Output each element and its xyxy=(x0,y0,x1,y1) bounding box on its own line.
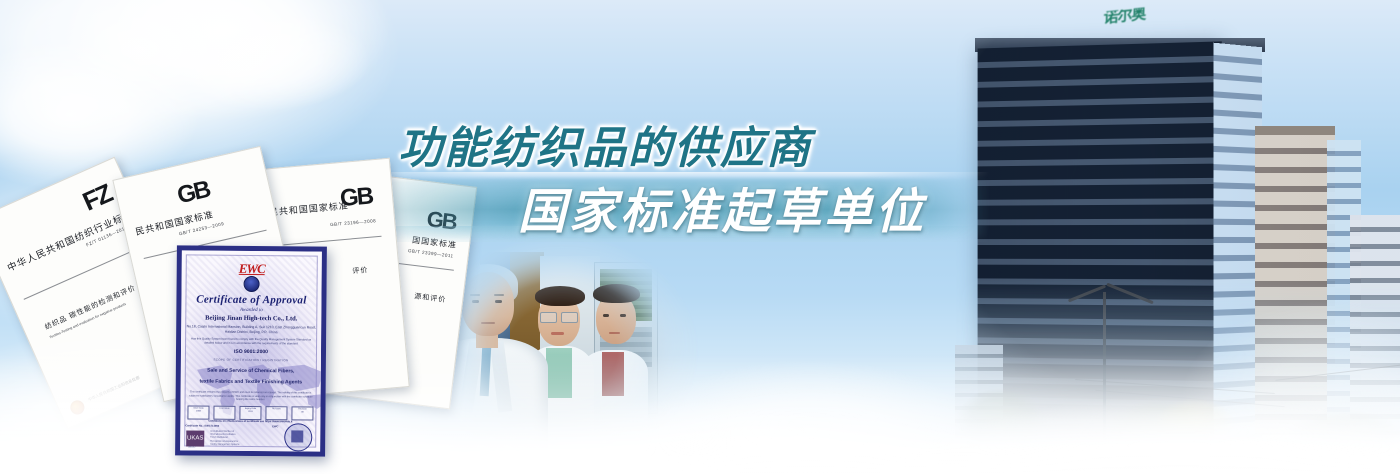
certificate-box: Re-Issue xyxy=(265,406,287,420)
standard-code: GB xyxy=(175,176,212,210)
certificate-number: Certificate No.: EWC714002 xyxy=(185,424,219,427)
standard-number: GB/T 23196—2008 xyxy=(330,218,376,227)
certificate-box: First Issue xyxy=(213,406,235,420)
iso-certificate-of-approval: EWC Certificate of Approval Awarded to B… xyxy=(175,245,327,456)
certificate-detail-boxes: Issue Date 2008 First Issue Expiry Date … xyxy=(187,405,313,420)
certificate-number-label: Certificate No.: xyxy=(185,424,203,427)
accreditation-text: Accreditation Member of International Ac… xyxy=(210,431,239,447)
certificate-serial: 000142 xyxy=(188,446,195,448)
box-value: 2011 xyxy=(240,411,260,415)
box-label: First Issue xyxy=(214,408,234,412)
tree-1 xyxy=(955,388,1045,450)
certificate-number-value: EWC714002 xyxy=(205,425,220,428)
standard-subtitle: 源和评价 xyxy=(414,291,447,305)
tree-3 xyxy=(1285,410,1400,450)
cloud-top-left-2 xyxy=(60,0,390,120)
certificate-box: Issue Date 2008 xyxy=(187,405,209,419)
mid-rise-tower xyxy=(1255,135,1335,435)
accreditation-mark-icon: UKAS xyxy=(186,430,204,446)
standard-title: 民共和国国家标准 xyxy=(134,207,215,238)
street-lamp-post xyxy=(1103,292,1106,442)
anchor-seal-icon xyxy=(244,276,260,292)
certificates-cluster: GB 国国家标准 GB/T 23399—2011 源和评价 GB 华人民共和国国… xyxy=(0,150,470,474)
standard-subtitle: 纺织品 碳性能的检测和评价 xyxy=(43,283,137,332)
standard-subtitle: 评价 xyxy=(352,265,369,276)
certificate-heading: Certificate of Approval xyxy=(181,293,321,306)
awarded-to-label: Awarded to xyxy=(181,307,321,313)
standard-code: GB xyxy=(425,206,457,235)
hero-banner: 诺尔奥 xyxy=(0,0,1400,474)
national-emblem-icon xyxy=(68,398,86,416)
certificate-scope-line-2: textile Fabrics and Textile Finishing Ag… xyxy=(185,378,317,385)
certificate-box: Expiry Date 2011 xyxy=(239,406,261,420)
accreditation-line: Quality Management Systems xyxy=(210,443,239,446)
certificate-standard: ISO 9001:2000 xyxy=(181,348,321,355)
box-value: 2008 xyxy=(188,411,208,415)
office-tower-photo: 诺尔奥 xyxy=(955,0,1400,450)
round-stamp-icon xyxy=(284,423,312,451)
standard-code: FZ xyxy=(78,178,116,218)
headline-secondary: 国家标准起草单位 xyxy=(518,172,926,242)
certificate-company-name: Beijing Jinan High-tech Co., Ltd. xyxy=(181,314,321,322)
certificate-scope-label: SCOPE OF CERTIFICATION / REGISTRATION xyxy=(181,357,321,362)
certificate-body-text: Has this Quality System been found to co… xyxy=(187,336,315,346)
box-label: Re-Issue xyxy=(266,408,286,412)
certificate-fine-print: This certificate remains the property of… xyxy=(187,390,315,402)
standard-footer: 中华人民共和国工业和信息化部 xyxy=(87,375,141,403)
cloud-top-left-4 xyxy=(170,10,370,110)
tree-autumn-yellow xyxy=(1155,398,1235,450)
certificate-registrar: EWC xyxy=(272,425,278,428)
box-value: 00 xyxy=(292,412,312,416)
certificate-scope-line-1: Sale and Service of Chemical Fibers, xyxy=(185,367,317,374)
far-right-tower xyxy=(1350,215,1400,435)
certificate-company-address: No.18, Caizhi International Mansion, Bui… xyxy=(185,324,317,335)
standard-title: 中华人民共和国纺织行业标准 xyxy=(5,206,135,274)
certificate-box: Revision 00 xyxy=(291,406,313,420)
